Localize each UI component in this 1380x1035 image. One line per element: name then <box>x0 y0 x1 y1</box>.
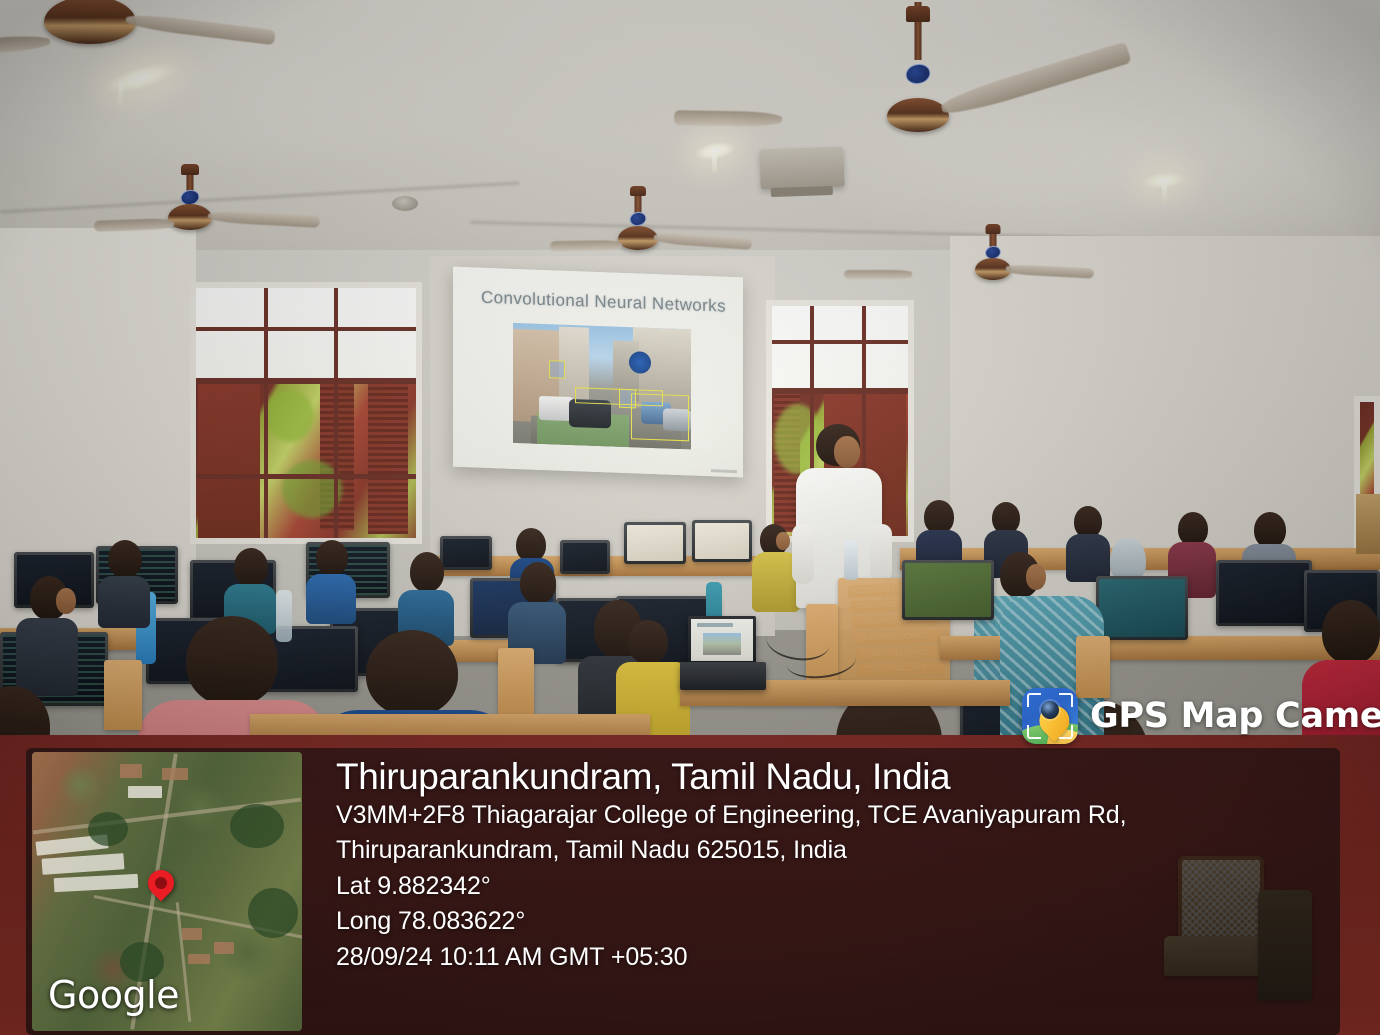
map-vegetation <box>88 812 128 846</box>
screenshot-root: Convolutional Neural Networks <box>0 0 1380 1035</box>
slide-footer-mark <box>711 469 737 473</box>
gps-map-camera-watermark: GPS Map Camera <box>1022 688 1380 744</box>
gps-map-camera-icon <box>1022 688 1078 744</box>
water-bottle <box>844 540 858 580</box>
longitude-value: Long 78.083622° <box>336 904 1330 940</box>
cubicle-divider <box>498 648 534 720</box>
ceiling-fan <box>612 190 664 256</box>
map-building <box>120 764 142 778</box>
smoke-detector <box>392 196 418 211</box>
camera-lens-icon <box>1041 701 1059 719</box>
ceiling-fan <box>160 168 220 238</box>
address-line-1: V3MM+2F8 Thiagarajar College of Engineer… <box>336 798 1330 834</box>
ceiling-fan <box>880 2 956 132</box>
geotag-info-panel: Google Thiruparankundram, Tamil Nadu, In… <box>26 748 1340 1035</box>
geotag-text-block: Thiruparankundram, Tamil Nadu, India V3M… <box>336 756 1330 975</box>
notice-board <box>1356 494 1380 554</box>
ceiling-seam <box>0 181 519 213</box>
latitude-value: Lat 9.882342° <box>336 869 1330 905</box>
light-stem <box>712 154 717 172</box>
projection-screen: Convolutional Neural Networks <box>453 267 743 478</box>
monitor <box>1096 576 1188 640</box>
slide-image-street-scene <box>513 323 691 450</box>
projector-mount <box>759 147 844 190</box>
map-building <box>182 928 202 940</box>
laptop-screen <box>688 616 756 664</box>
map-vegetation <box>248 888 298 938</box>
monitor <box>560 540 610 574</box>
map-building <box>214 942 234 954</box>
cubicle-divider <box>104 660 142 730</box>
monitor <box>1216 560 1312 626</box>
monitor <box>624 522 686 564</box>
window-left <box>190 282 422 544</box>
monitor <box>440 536 492 570</box>
map-building <box>128 786 162 798</box>
water-bottle <box>276 590 292 642</box>
google-attribution: Google <box>48 973 179 1017</box>
map-thumbnail: Google <box>32 752 302 1031</box>
map-building <box>188 954 210 964</box>
map-vegetation <box>230 804 284 848</box>
location-title: Thiruparankundram, Tamil Nadu, India <box>336 756 1330 798</box>
monitor <box>692 520 752 562</box>
ceiling-fan <box>30 0 150 52</box>
detection-box <box>631 393 689 441</box>
slide: Convolutional Neural Networks <box>453 267 743 478</box>
map-building <box>162 768 188 780</box>
slide-title: Convolutional Neural Networks <box>481 288 726 317</box>
laptop-base <box>680 662 766 690</box>
ceiling-fan <box>970 228 1016 290</box>
monitor <box>902 560 994 620</box>
capture-timestamp: 28/09/24 10:11 AM GMT +05:30 <box>336 940 1330 976</box>
gps-map-camera-label: GPS Map Camera <box>1090 696 1380 736</box>
address-line-2: Thiruparankundram, Tamil Nadu 625015, In… <box>336 833 1330 869</box>
light-stem <box>1162 184 1167 204</box>
detection-box <box>549 360 565 379</box>
